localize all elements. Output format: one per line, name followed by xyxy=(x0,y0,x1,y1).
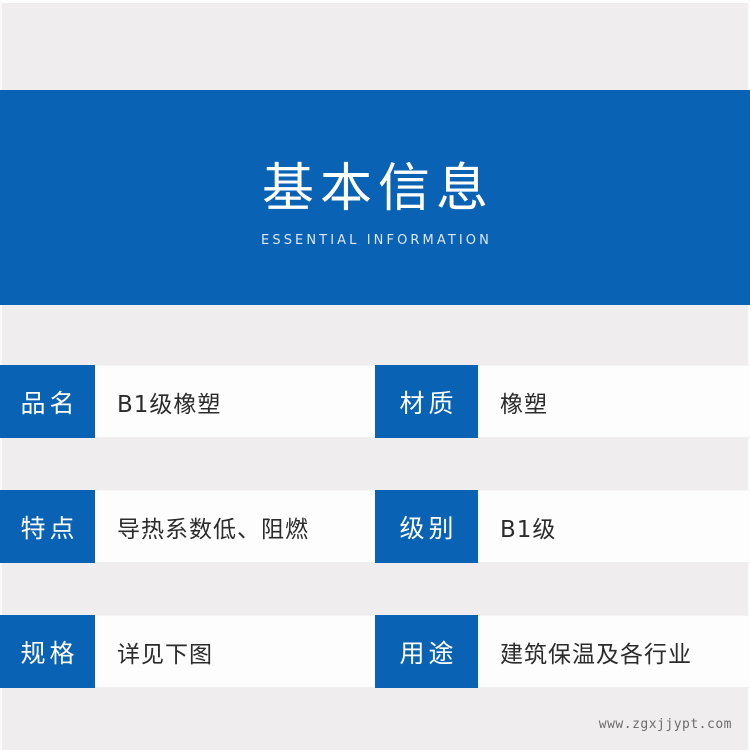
info-label-yongtu: 用途 xyxy=(375,615,478,688)
top-edge-strip xyxy=(0,0,750,3)
banner-subtitle: ESSENTIAL INFORMATION xyxy=(258,233,492,248)
info-value-yongtu: 建筑保温及各行业 xyxy=(478,615,750,688)
info-value-jibie: B1级 xyxy=(478,490,750,563)
essential-information-banner: 基本信息 ESSENTIAL INFORMATION xyxy=(0,90,750,305)
info-label-jibie: 级别 xyxy=(375,490,478,563)
info-value-guige: 详见下图 xyxy=(95,615,375,688)
table-row: 特点 导热系数低、阻燃 级别 B1级 xyxy=(0,490,750,563)
info-table: 品名 B1级橡塑 材质 橡塑 特点 导热系数低、阻燃 级别 B1级 规格 详见下… xyxy=(0,365,750,740)
info-label-tedian: 特点 xyxy=(0,490,95,563)
info-value-pinming: B1级橡塑 xyxy=(95,365,375,438)
site-watermark: www.zgxjjypt.com xyxy=(599,717,732,732)
info-value-tedian: 导热系数低、阻燃 xyxy=(95,490,375,563)
info-value-caizhi: 橡塑 xyxy=(478,365,750,438)
info-label-caizhi: 材质 xyxy=(375,365,478,438)
table-row: 规格 详见下图 用途 建筑保温及各行业 xyxy=(0,615,750,688)
banner-title: 基本信息 xyxy=(256,161,494,218)
info-label-guige: 规格 xyxy=(0,615,95,688)
info-label-pinming: 品名 xyxy=(0,365,95,438)
table-row: 品名 B1级橡塑 材质 橡塑 xyxy=(0,365,750,438)
